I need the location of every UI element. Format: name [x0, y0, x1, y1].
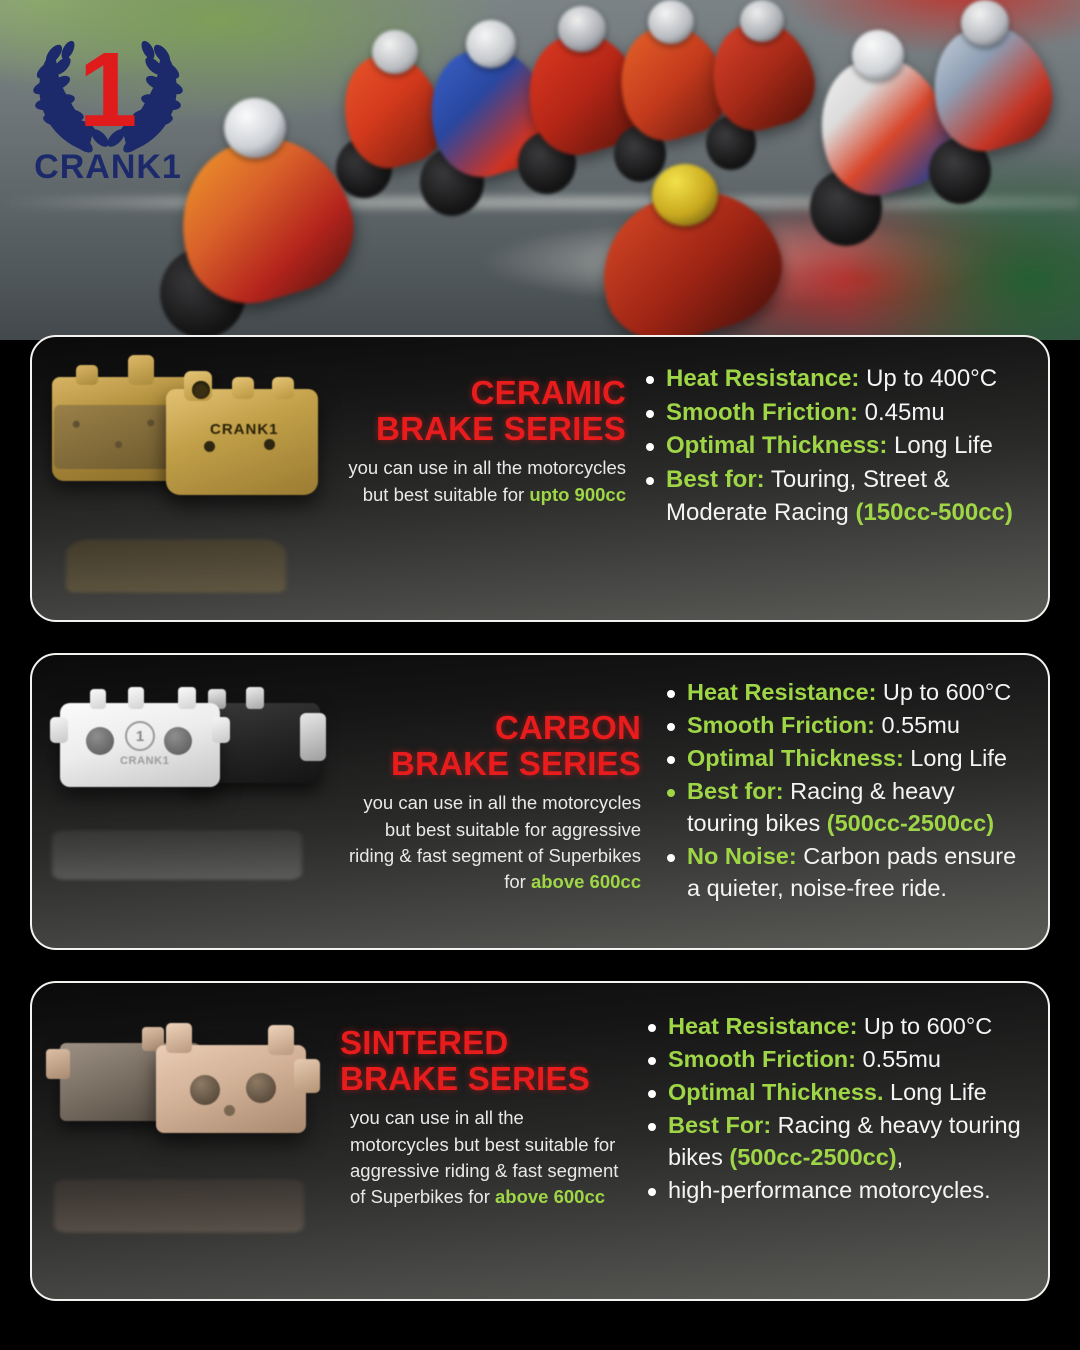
spec-highlight: (500cc-2500cc): [827, 810, 994, 836]
spec-item: Best for: Touring, Street & Moderate Rac…: [640, 464, 1032, 529]
spec-value: Up to 600°C: [876, 679, 1011, 705]
spec-item: Smooth Friction: 0.45mu: [640, 397, 1032, 430]
spec-value: Up to 400°C: [859, 365, 997, 392]
spec-value: Long Life: [887, 432, 992, 459]
description-highlight: above 600cc: [531, 871, 641, 892]
badge-number: 1: [79, 31, 138, 149]
series-title-line1: SINTERED: [340, 1025, 590, 1061]
pad-stamp-text: CRANK1: [210, 421, 279, 438]
carbon-description: you can use in all the motorcycles but b…: [341, 790, 641, 895]
spec-item: Heat Resistance: Up to 600°C: [642, 1011, 1032, 1043]
spec-item: Optimal Thickness. Long Life: [642, 1077, 1032, 1109]
carbon-pad-photo: 1 CRANK1: [32, 655, 332, 948]
spec-item: Optimal Thickness: Long Life: [661, 743, 1032, 775]
series-title-line2: BRAKE SERIES: [391, 746, 641, 782]
spec-label: Smooth Friction:: [666, 399, 858, 426]
series-title-line1: CARBON: [391, 710, 641, 746]
spec-label: No Noise:: [687, 843, 797, 869]
spec-item: Best for: Racing & heavy touring bikes (…: [661, 776, 1032, 840]
product-cards: CRANK1 CERAMIC BRAKE SERIES you can use …: [0, 335, 1080, 1327]
spec-item: Optimal Thickness: Long Life: [640, 430, 1032, 463]
sintered-title-block: SINTERED BRAKE SERIES you can use in all…: [332, 983, 632, 1299]
brand-wordmark: CRANK1: [34, 148, 182, 184]
spec-item: Smooth Friction: 0.55mu: [661, 710, 1032, 742]
pad-right: [156, 1045, 306, 1133]
carbon-specs: Heat Resistance: Up to 600°C Smooth Fric…: [647, 655, 1048, 948]
sintered-specs: Heat Resistance: Up to 600°C Smooth Fric…: [632, 983, 1048, 1299]
spec-label: Smooth Friction:: [668, 1046, 856, 1072]
spec-label: Best for:: [687, 778, 784, 804]
spec-item: high-performance motorcycles.: [642, 1175, 1032, 1207]
pad-front: [166, 389, 318, 495]
pad-logo-stamp: 1: [125, 721, 155, 751]
spec-label: Heat Resistance:: [666, 365, 859, 392]
crank1-logo: 1 CRANK1: [18, 14, 198, 184]
spec-item: Heat Resistance: Up to 400°C: [640, 363, 1032, 396]
spec-item: No Noise: Carbon pads ensure a quieter, …: [661, 841, 1032, 905]
sintered-description: you can use in all the motorcycles but b…: [350, 1105, 626, 1210]
card-ceramic[interactable]: CRANK1 CERAMIC BRAKE SERIES you can use …: [30, 335, 1050, 622]
spec-list: Heat Resistance: Up to 600°C Smooth Fric…: [661, 677, 1032, 905]
spec-item: Smooth Friction: 0.55mu: [642, 1044, 1032, 1076]
card-sintered[interactable]: SINTERED BRAKE SERIES you can use in all…: [30, 981, 1050, 1301]
spec-label: Optimal Thickness:: [687, 745, 904, 771]
carbon-title-block: CARBON BRAKE SERIES you can use in all t…: [332, 655, 647, 948]
spec-value: 0.55mu: [856, 1046, 941, 1072]
spec-label: Optimal Thickness:: [666, 432, 887, 459]
card-carbon[interactable]: 1 CRANK1 CARBON BRAKE SERIES you can use…: [30, 653, 1050, 950]
pad-back-friction: [54, 405, 178, 469]
ceramic-title-block: CERAMIC BRAKE SERIES you can use in all …: [332, 337, 632, 620]
description-highlight: above 600cc: [495, 1186, 605, 1207]
spec-item: Best For: Racing & heavy touring bikes (…: [642, 1110, 1032, 1174]
spec-list: Heat Resistance: Up to 400°C Smooth Fric…: [640, 363, 1032, 529]
spec-value: 0.55mu: [875, 712, 960, 738]
spec-label: Heat Resistance:: [668, 1013, 857, 1039]
spec-suffix: ,: [897, 1144, 904, 1170]
spec-value: 0.45mu: [858, 399, 945, 426]
hero-banner: 1 CRANK1: [0, 0, 1080, 340]
spec-highlight: (150cc-500cc): [855, 499, 1012, 526]
series-title-line2: BRAKE SERIES: [376, 411, 626, 447]
spec-label: Best For:: [668, 1112, 771, 1138]
ceramic-description: you can use in all the motorcycles but b…: [336, 455, 626, 508]
rider-blob-foreground: [560, 150, 800, 340]
spec-label: Heat Resistance:: [687, 679, 876, 705]
spec-value: Long Life: [904, 745, 1007, 771]
rider-blob-49: [905, 0, 1065, 210]
spec-list: Heat Resistance: Up to 600°C Smooth Fric…: [642, 1011, 1032, 1207]
spec-value: Up to 600°C: [857, 1013, 992, 1039]
series-title-line1: CERAMIC: [376, 375, 626, 411]
spec-value: Long Life: [883, 1079, 986, 1105]
spec-item: Heat Resistance: Up to 600°C: [661, 677, 1032, 709]
spec-label: Best for:: [666, 466, 765, 493]
spec-highlight: (500cc-2500cc): [729, 1144, 896, 1170]
sintered-pad-photo: [32, 983, 332, 1299]
spec-label: Optimal Thickness.: [668, 1079, 883, 1105]
series-title-line2: BRAKE SERIES: [340, 1061, 590, 1097]
description-highlight: upto 900cc: [529, 484, 626, 505]
ceramic-specs: Heat Resistance: Up to 400°C Smooth Fric…: [632, 337, 1048, 620]
spec-label: Smooth Friction:: [687, 712, 875, 738]
spec-value: high-performance motorcycles.: [668, 1177, 991, 1203]
ceramic-pad-photo: CRANK1: [32, 337, 332, 620]
pad-stamp-text: CRANK1: [120, 755, 169, 767]
